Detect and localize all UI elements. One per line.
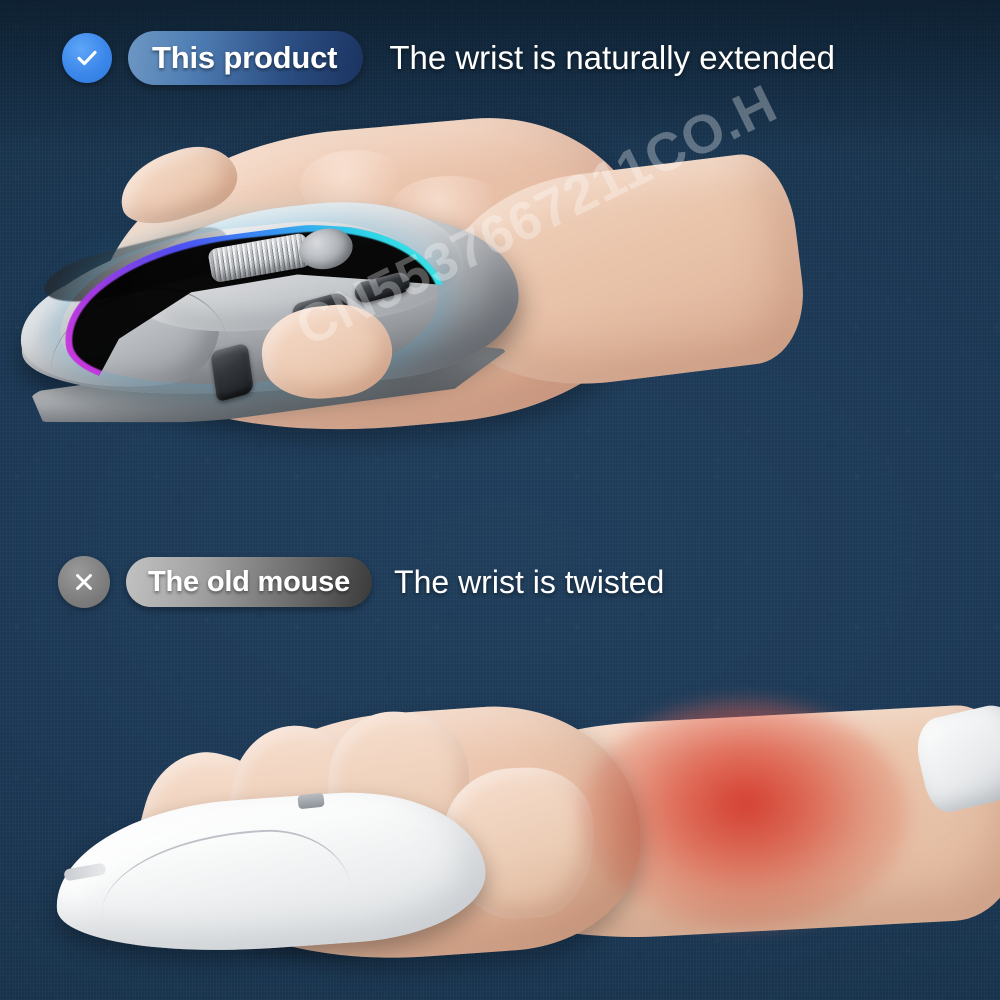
badge-this-product-label: This product — [152, 40, 337, 76]
wrist-pain-indicator — [580, 700, 910, 930]
photo-old-mouse — [40, 690, 1000, 1000]
badge-old-mouse: The old mouse — [126, 557, 372, 607]
headline-old-mouse: The wrist is twisted — [394, 564, 664, 601]
badge-this-product: This product — [128, 31, 363, 85]
callout-row-old-mouse: The old mouse The wrist is twisted — [58, 556, 664, 608]
badge-old-mouse-label: The old mouse — [148, 566, 350, 599]
check-circle-icon — [62, 33, 112, 83]
headline-this-product: The wrist is naturally extended — [389, 39, 835, 77]
photo-ergonomic-mouse — [0, 110, 780, 480]
product-comparison-image: CN5537667211CO.H This product The wrist … — [0, 0, 1000, 1000]
old-mouse-scroll-wheel[interactable] — [297, 793, 324, 810]
dpi-button[interactable] — [210, 342, 254, 402]
x-circle-icon — [58, 556, 110, 608]
callout-row-this-product: This product The wrist is naturally exte… — [62, 31, 835, 85]
